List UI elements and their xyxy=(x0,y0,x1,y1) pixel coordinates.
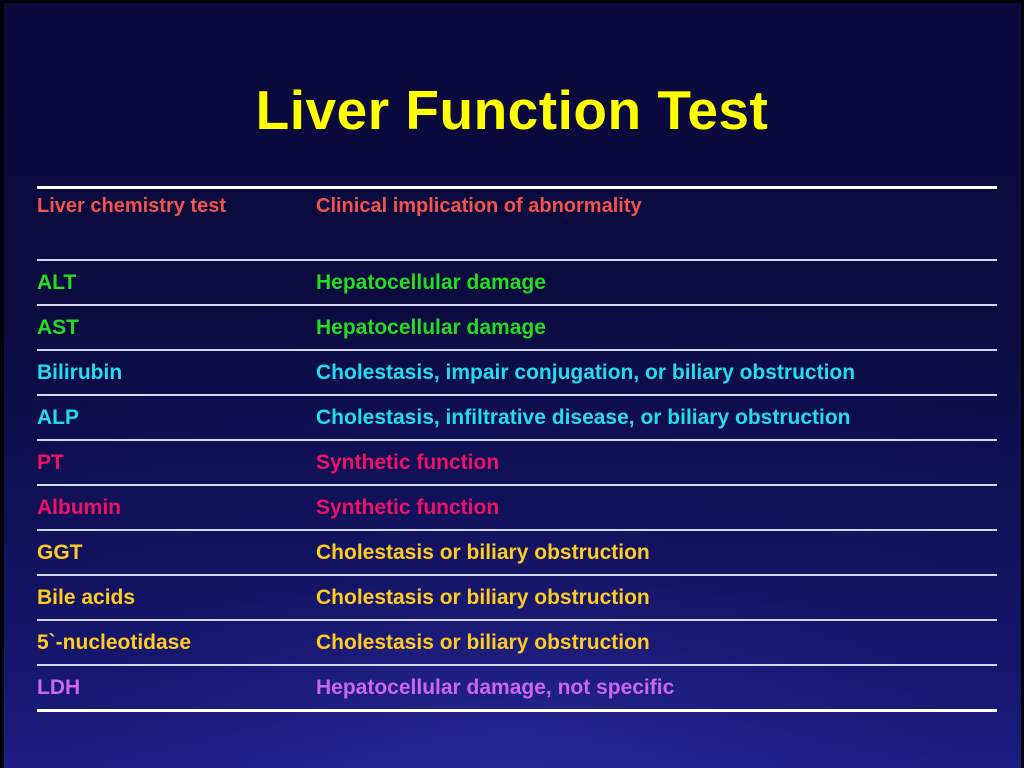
slide-canvas: Liver Function Test Liver chemistry test… xyxy=(0,0,1024,768)
table-row: PT Synthetic function xyxy=(37,441,997,484)
cell-test-name: Albumin xyxy=(37,496,316,520)
cell-test-name: Bilirubin xyxy=(37,361,316,385)
table-row: Bilirubin Cholestasis, impair conjugatio… xyxy=(37,351,997,394)
table-header-row: Liver chemistry test Clinical implicatio… xyxy=(37,189,997,259)
column-header-clinical-implication: Clinical implication of abnormality xyxy=(316,195,997,218)
table-row: Bile acids Cholestasis or biliary obstru… xyxy=(37,576,997,619)
table-row: ALP Cholestasis, infiltrative disease, o… xyxy=(37,396,997,439)
cell-implication: Hepatocellular damage, not specific xyxy=(316,676,997,700)
cell-test-name: LDH xyxy=(37,676,316,700)
table-row: Albumin Synthetic function xyxy=(37,486,997,529)
cell-implication: Hepatocellular damage xyxy=(316,316,997,340)
table-row: AST Hepatocellular damage xyxy=(37,306,997,349)
cell-implication: Cholestasis, impair conjugation, or bili… xyxy=(316,361,997,385)
table-bottom-rule xyxy=(37,709,997,712)
liver-function-test-table: Liver chemistry test Clinical implicatio… xyxy=(37,186,997,712)
cell-implication: Cholestasis or biliary obstruction xyxy=(316,586,997,610)
cell-test-name: GGT xyxy=(37,541,316,565)
table-row: LDH Hepatocellular damage, not specific xyxy=(37,666,997,709)
cell-test-name: Bile acids xyxy=(37,586,316,610)
cell-implication: Cholestasis or biliary obstruction xyxy=(316,631,997,655)
cell-test-name: 5`-nucleotidase xyxy=(37,631,316,655)
cell-test-name: AST xyxy=(37,316,316,340)
table-row: GGT Cholestasis or biliary obstruction xyxy=(37,531,997,574)
cell-implication: Hepatocellular damage xyxy=(316,271,997,295)
page-title: Liver Function Test xyxy=(0,82,1024,140)
cell-implication: Synthetic function xyxy=(316,496,997,520)
table-row: ALT Hepatocellular damage xyxy=(37,261,997,304)
column-header-liver-chemistry-test: Liver chemistry test xyxy=(37,195,316,218)
cell-test-name: PT xyxy=(37,451,316,475)
cell-implication: Synthetic function xyxy=(316,451,997,475)
table-row: 5`-nucleotidase Cholestasis or biliary o… xyxy=(37,621,997,664)
cell-implication: Cholestasis or biliary obstruction xyxy=(316,541,997,565)
cell-test-name: ALT xyxy=(37,271,316,295)
cell-implication: Cholestasis, infiltrative disease, or bi… xyxy=(316,406,997,430)
cell-test-name: ALP xyxy=(37,406,316,430)
